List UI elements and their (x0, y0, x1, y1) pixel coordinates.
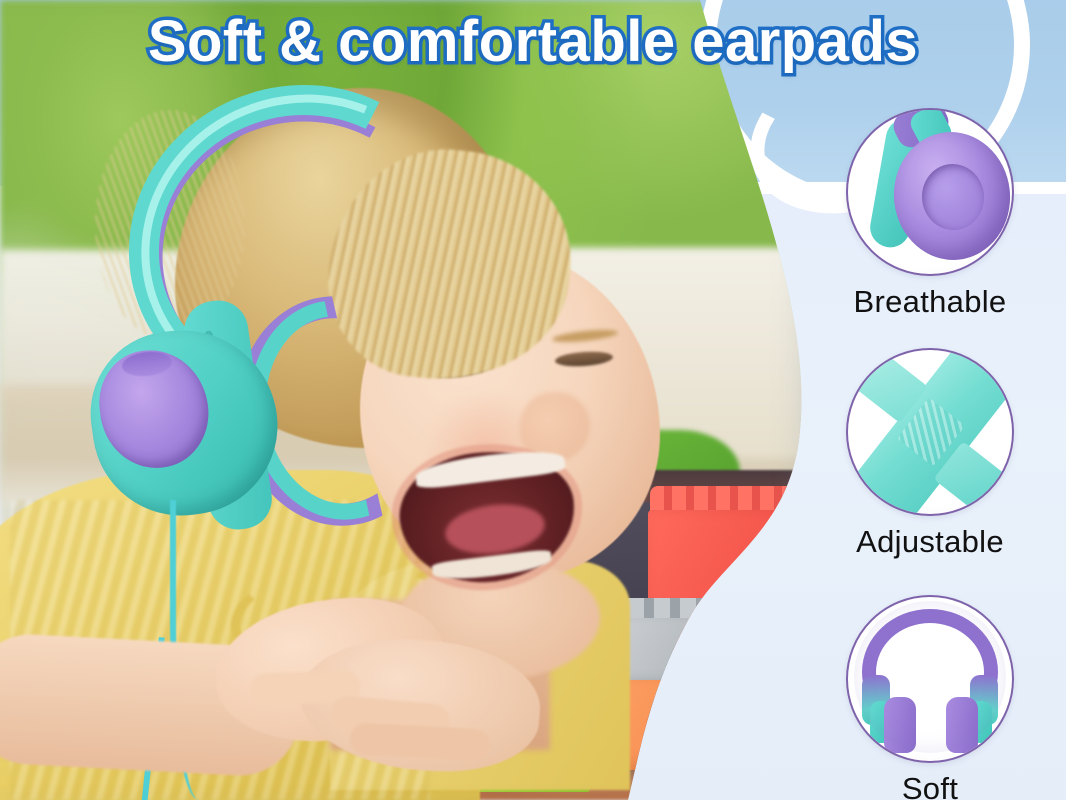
headband-slider-icon (846, 348, 1014, 516)
feature-card-adjustable: Adjustable (812, 348, 1048, 560)
headphones-front-icon (846, 595, 1014, 763)
feature-card-soft: Soft (812, 595, 1048, 800)
feature-label-adjustable: Adjustable (812, 524, 1048, 560)
headphones-icon-glow (854, 601, 1006, 753)
feature-label-breathable: Breathable (812, 284, 1048, 320)
page-title: Soft & comfortable earpads (0, 8, 1066, 75)
product-infographic: Soft & comfortable earpads Breathable Ad… (0, 0, 1066, 800)
earpad-closeup-icon (846, 108, 1014, 276)
feature-card-breathable: Breathable (812, 108, 1048, 320)
feature-label-soft: Soft (812, 771, 1048, 800)
